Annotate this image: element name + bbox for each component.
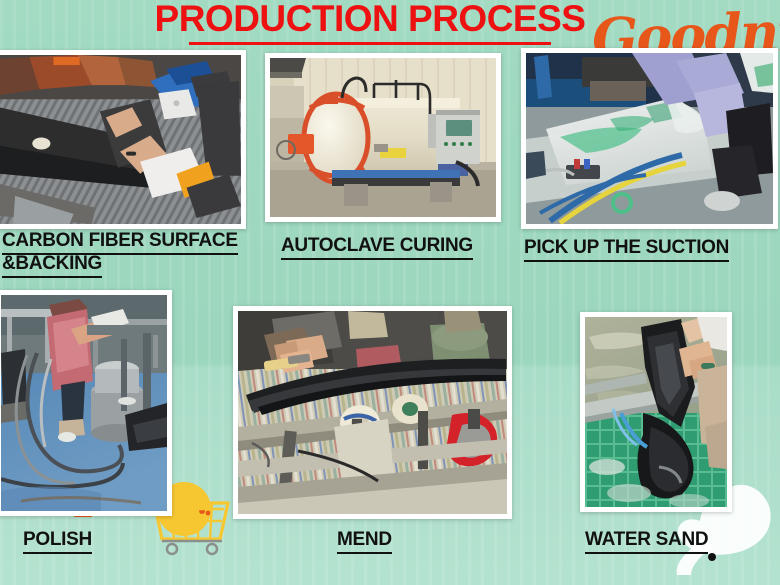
photo-frame-polish[interactable] bbox=[0, 290, 172, 516]
page-title: PRODUCTION PROCESS bbox=[140, 0, 600, 44]
photo-mend bbox=[238, 311, 507, 514]
caption-mend: MEND bbox=[337, 528, 392, 554]
caption-carbon-fiber-line2: &BACKING bbox=[2, 252, 102, 278]
photo-polish bbox=[1, 295, 167, 511]
photo-frame-pick-up-suction[interactable] bbox=[521, 48, 778, 229]
caption-text: AUTOCLAVE CURING bbox=[281, 234, 473, 260]
caption-autoclave-curing: AUTOCLAVE CURING bbox=[281, 234, 473, 260]
caption-text: POLISH bbox=[23, 528, 92, 554]
photo-frame-autoclave[interactable] bbox=[265, 53, 501, 222]
photo-frame-carbon-fiber-surface[interactable] bbox=[0, 50, 246, 229]
caption-pick-up-the-suction: PICK UP THE SUCTION bbox=[524, 236, 729, 262]
title-underline-rule bbox=[189, 42, 551, 45]
caption-polish: POLISH bbox=[23, 528, 92, 554]
photo-frame-water-sand[interactable] bbox=[580, 312, 732, 512]
page-title-text: PRODUCTION PROCESS bbox=[155, 0, 586, 40]
photo-water-sand bbox=[585, 317, 727, 507]
photo-frame-mend[interactable] bbox=[233, 306, 512, 519]
slide-canvas: Goodnight PRODUCTION PROCESS bbox=[0, 0, 780, 585]
photo-pick-up-the-suction bbox=[526, 53, 773, 224]
photo-carbon-fiber-surface bbox=[0, 55, 241, 224]
caption-text: &BACKING bbox=[2, 252, 102, 278]
caption-water-sand: WATER SAND bbox=[585, 528, 708, 554]
caption-text: MEND bbox=[337, 528, 392, 554]
caption-text: PICK UP THE SUCTION bbox=[524, 236, 729, 262]
caption-text: WATER SAND bbox=[585, 528, 708, 554]
photo-autoclave-curing bbox=[270, 58, 496, 217]
